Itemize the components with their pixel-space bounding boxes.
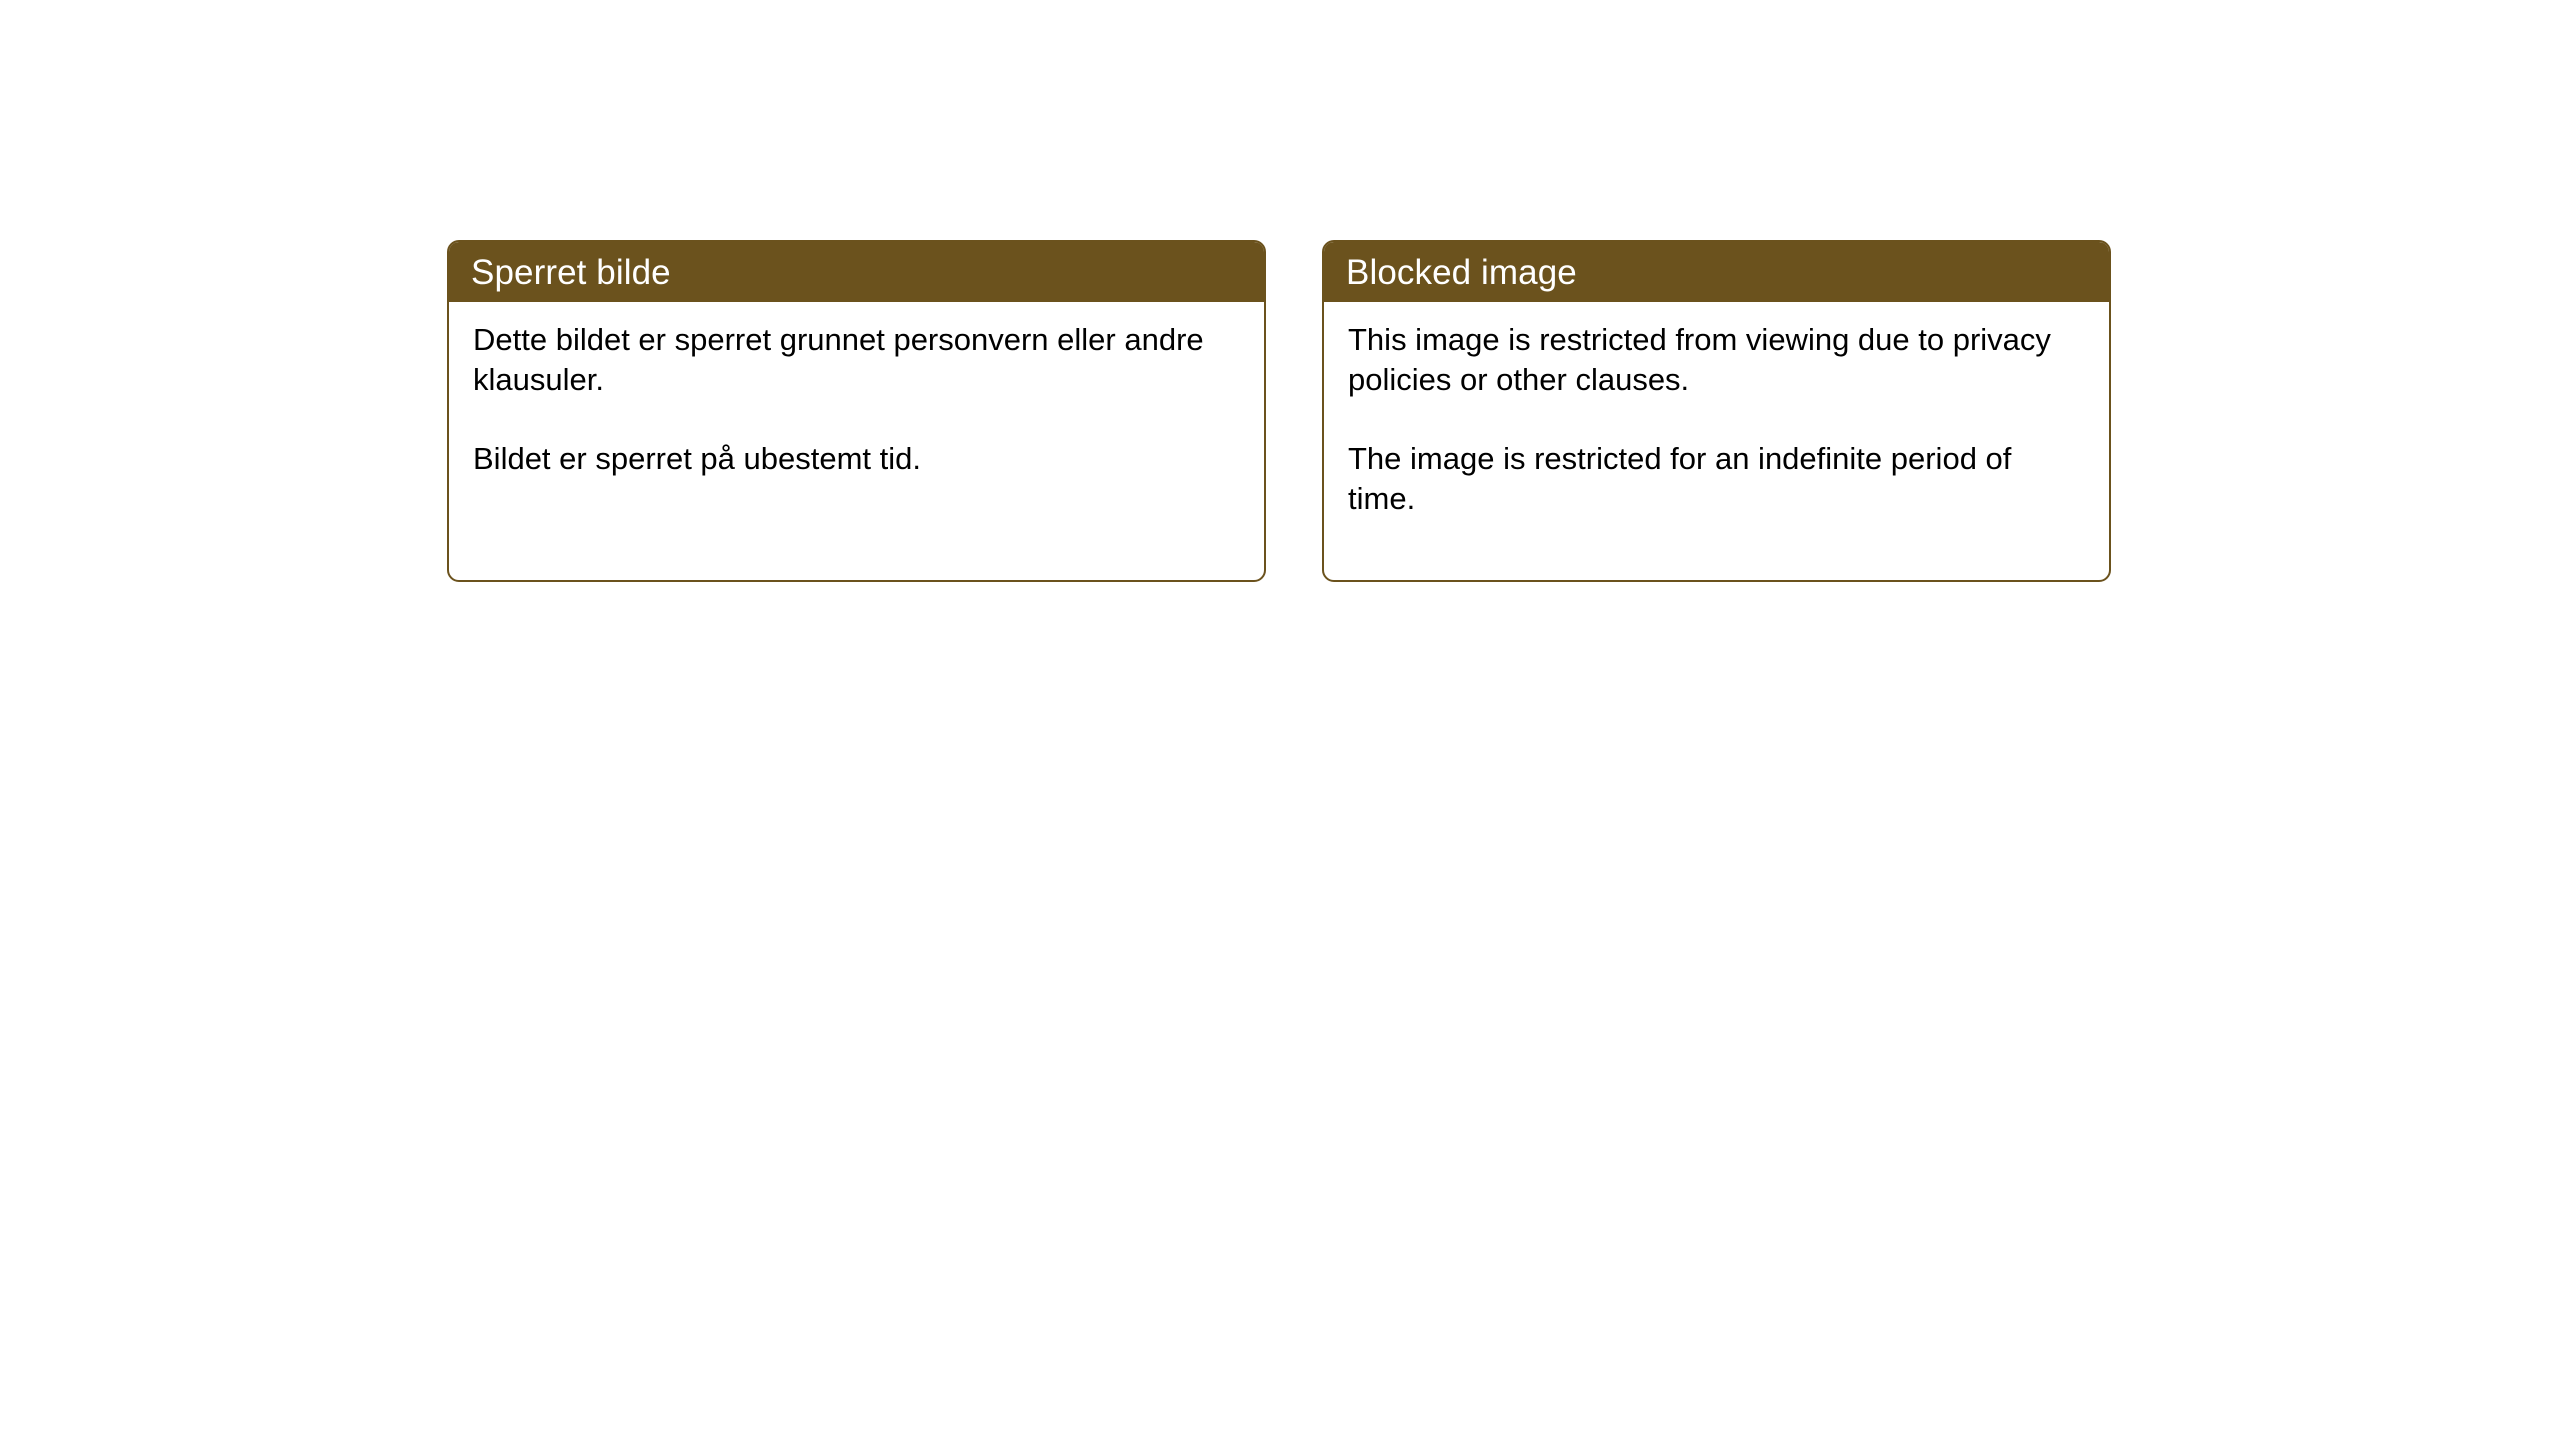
card-title-english: Blocked image bbox=[1346, 255, 1577, 290]
card-paragraph-duration-english: The image is restricted for an indefinit… bbox=[1348, 439, 2087, 518]
card-header-english: Blocked image bbox=[1324, 242, 2109, 302]
card-paragraph-reason-norwegian: Dette bildet er sperret grunnet personve… bbox=[473, 320, 1242, 399]
card-body-english: This image is restricted from viewing du… bbox=[1324, 302, 2109, 519]
card-title-norwegian: Sperret bilde bbox=[471, 255, 671, 290]
card-paragraph-reason-english: This image is restricted from viewing du… bbox=[1348, 320, 2087, 399]
blocked-image-notice-card-norwegian: Sperret bilde Dette bildet er sperret gr… bbox=[447, 240, 1266, 582]
page-canvas: Sperret bilde Dette bildet er sperret gr… bbox=[0, 0, 2560, 1440]
card-header-norwegian: Sperret bilde bbox=[449, 242, 1264, 302]
card-paragraph-duration-norwegian: Bildet er sperret på ubestemt tid. bbox=[473, 439, 1242, 479]
card-body-norwegian: Dette bildet er sperret grunnet personve… bbox=[449, 302, 1264, 479]
blocked-image-notice-card-english: Blocked image This image is restricted f… bbox=[1322, 240, 2111, 582]
